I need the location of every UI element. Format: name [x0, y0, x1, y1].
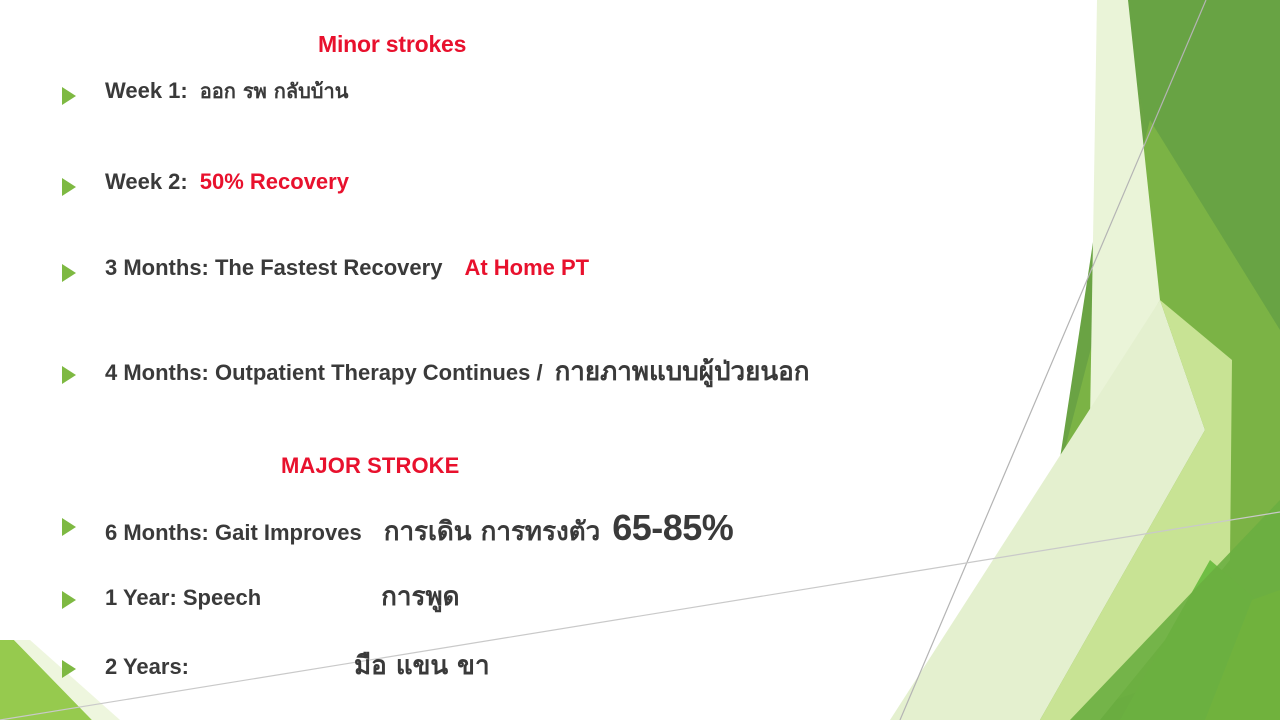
deco-bottom-dark — [1070, 500, 1280, 720]
bullet-thai-week-1: ออก รพ กลับบ้าน — [200, 79, 349, 103]
bullet-thai-month-4: กายภาพแบบผู้ป่วยนอก — [555, 357, 810, 387]
bullet-text-week-1: Week 1:ออก รพ กลับบ้าน — [105, 80, 348, 102]
bullet-thai-year-1: การพูด — [381, 582, 459, 612]
deco-mid-facet — [1040, 300, 1232, 720]
triangle-bullet-icon — [62, 87, 76, 105]
bullet-row-month-4: 4 Months: Outpatient Therapy Continues /… — [62, 359, 809, 385]
deco-pale-upper — [1090, 0, 1160, 420]
bullet-text-month-6: 6 Months: Gait Improvesการเดิน การทรงตัว… — [105, 510, 733, 546]
bullet-row-month-6: 6 Months: Gait Improvesการเดิน การทรงตัว… — [62, 510, 733, 546]
section-heading-minor-strokes: Minor strokes — [318, 31, 466, 58]
triangle-bullet-icon — [62, 178, 76, 196]
bullet-text-year-1: 1 Year: Speechการพูด — [105, 584, 459, 610]
slide-content: Minor strokes Week 1:ออก รพ กลับบ้าน Wee… — [0, 0, 1060, 720]
bullet-highlight-week-2: 50% Recovery — [200, 169, 349, 194]
bullet-row-week-1: Week 1:ออก รพ กลับบ้าน — [62, 80, 348, 102]
bullet-row-year-1: 1 Year: Speechการพูด — [62, 584, 459, 610]
slide-canvas: Minor strokes Week 1:ออก รพ กลับบ้าน Wee… — [0, 0, 1280, 720]
bullet-row-month-3: 3 Months: The Fastest RecoveryAt Home PT — [62, 257, 589, 279]
triangle-bullet-icon — [62, 591, 76, 609]
bullet-percentage-month-6: 65-85% — [612, 507, 733, 548]
bullet-label-month-6: 6 Months: Gait Improves — [105, 520, 362, 545]
bullet-row-year-2: 2 Years:มือ แขน ขา — [62, 653, 490, 679]
triangle-bullet-icon — [62, 518, 76, 536]
deco-top-green — [1118, 0, 1280, 498]
bullet-row-week-2: Week 2:50% Recovery — [62, 171, 349, 193]
deco-yellow-green-accent — [1205, 590, 1280, 720]
triangle-bullet-icon — [62, 264, 76, 282]
bullet-label-week-2: Week 2: — [105, 169, 188, 194]
bullet-label-week-1: Week 1: — [105, 78, 188, 103]
bullet-thai-year-2: มือ แขน ขา — [354, 651, 490, 681]
bullet-label-year-1: 1 Year: Speech — [105, 585, 261, 610]
bullet-thai-month-6: การเดิน การทรงตัว — [384, 517, 601, 547]
bullet-text-month-3: 3 Months: The Fastest RecoveryAt Home PT — [105, 257, 589, 279]
bullet-text-week-2: Week 2:50% Recovery — [105, 171, 349, 193]
bullet-label-year-2: 2 Years: — [105, 654, 189, 679]
deco-lower-bright — [1120, 560, 1280, 720]
triangle-bullet-icon — [62, 660, 76, 678]
bullet-label-month-3: 3 Months: The Fastest Recovery — [105, 255, 442, 280]
triangle-bullet-icon — [62, 366, 76, 384]
bullet-highlight-month-3: At Home PT — [464, 255, 589, 280]
bullet-label-month-4: 4 Months: Outpatient Therapy Continues / — [105, 360, 543, 385]
section-heading-major-stroke: MAJOR STROKE — [281, 453, 459, 479]
bullet-text-year-2: 2 Years:มือ แขน ขา — [105, 653, 490, 679]
bullet-text-month-4: 4 Months: Outpatient Therapy Continues /… — [105, 359, 809, 385]
